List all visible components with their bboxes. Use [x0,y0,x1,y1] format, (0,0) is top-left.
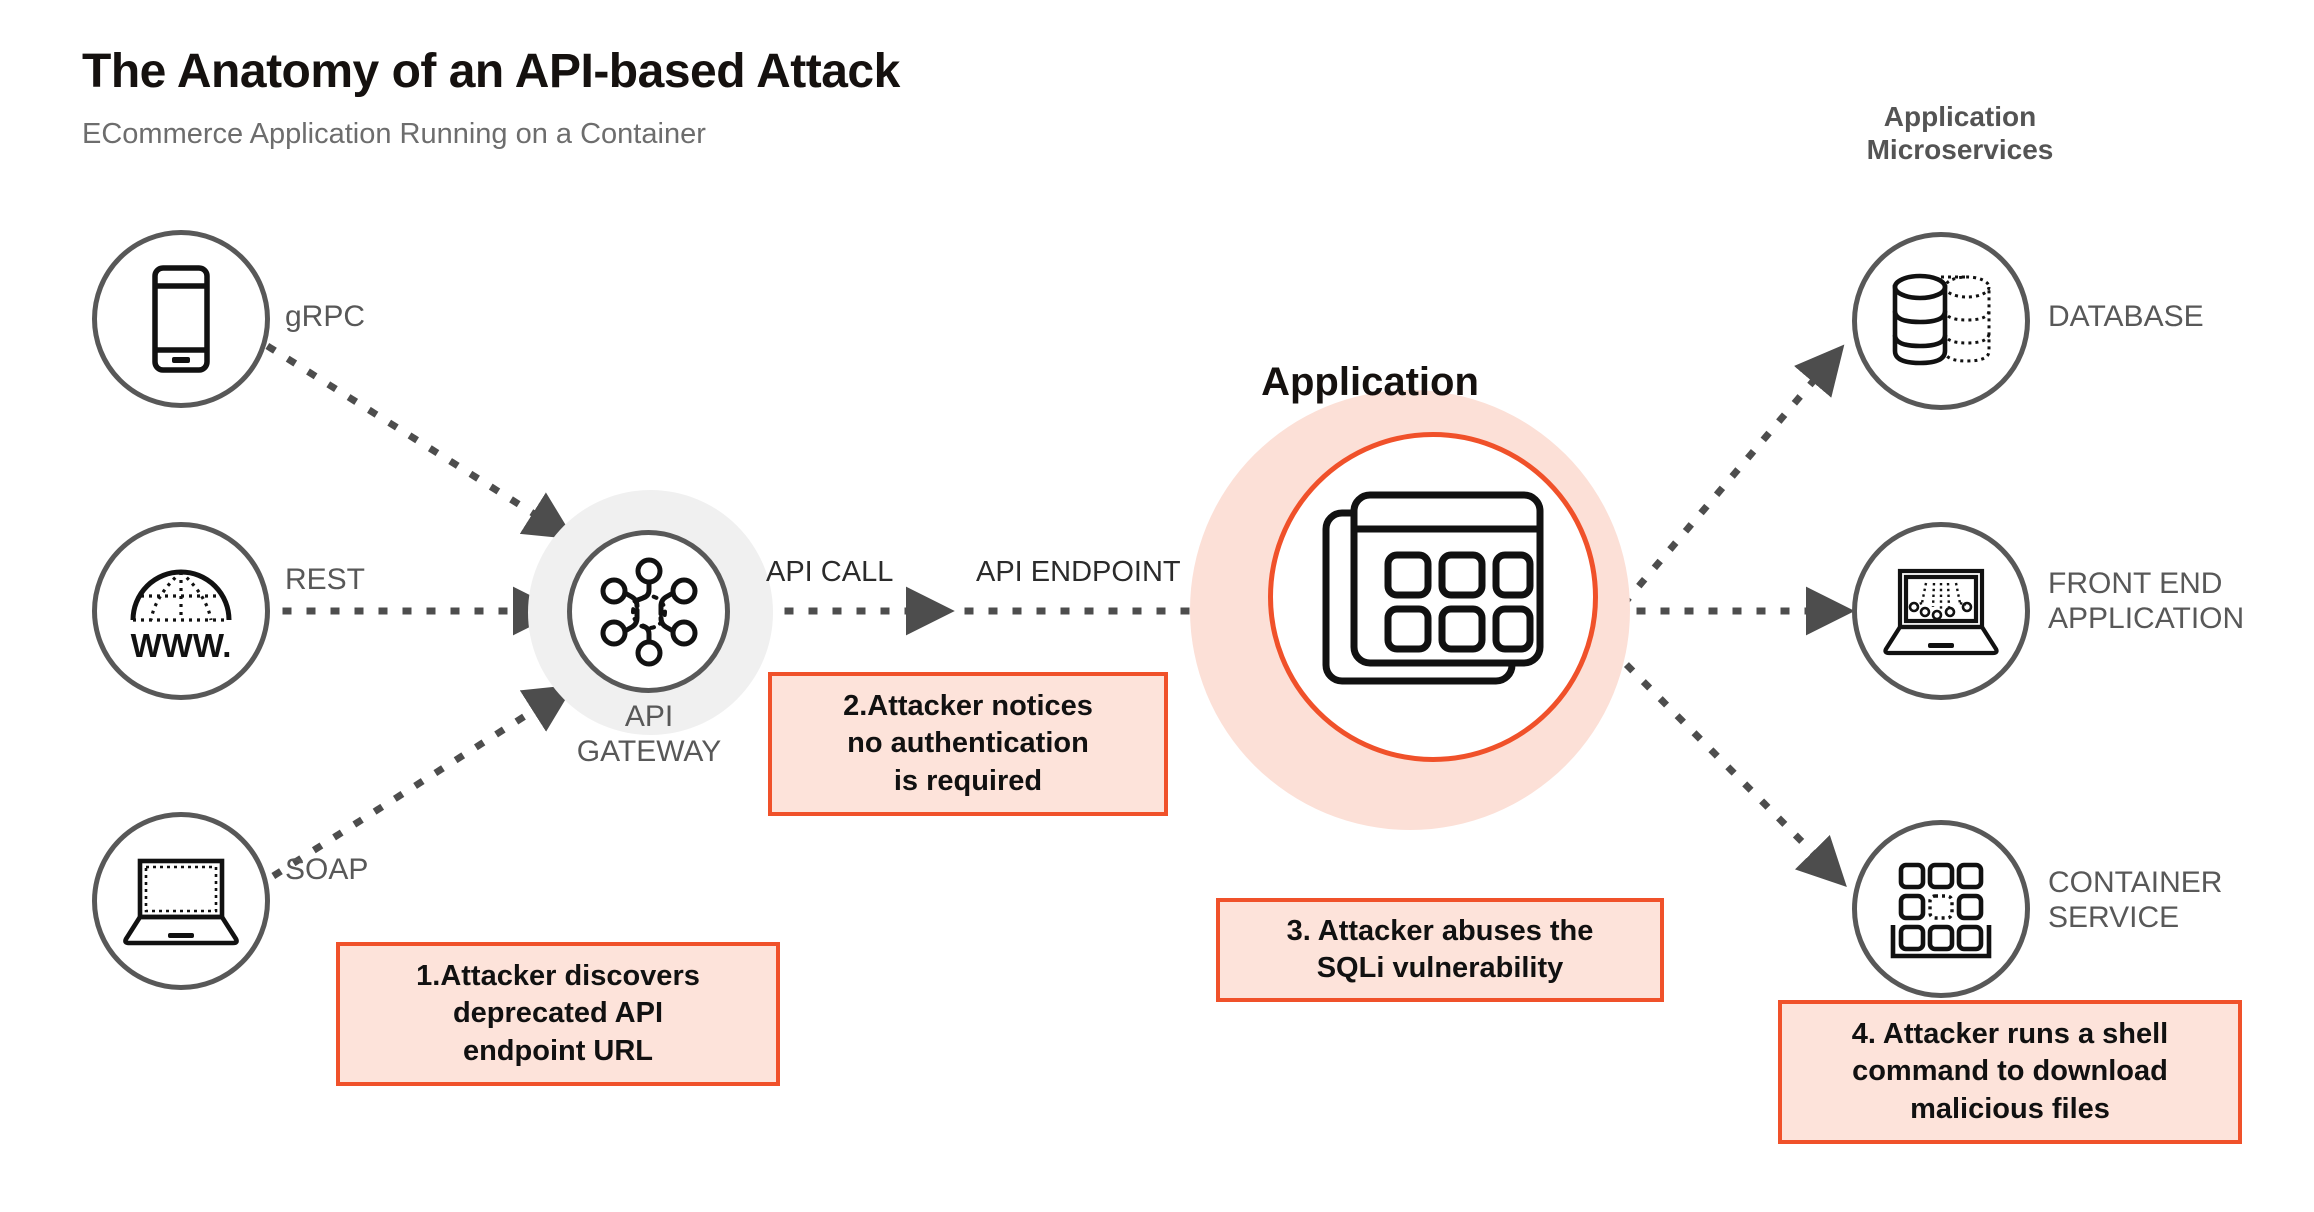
callout-step-2: 2.Attacker notices no authentication is … [768,672,1168,816]
application-heading: Application [1200,360,1540,405]
node-client-rest-label: REST [285,563,365,598]
node-client-grpc[interactable] [92,230,270,408]
node-microservice-frontend-label: FRONT END APPLICATION [2048,567,2244,637]
api-network-nodes-icon [589,552,709,672]
connector-label-api-endpoint: API ENDPOINT [976,556,1181,589]
connector-label-api-call: API CALL [766,556,893,589]
node-microservice-frontend[interactable] [1852,522,2030,700]
node-api-gateway[interactable] [567,530,730,693]
globe-www-icon: WWW. [121,556,241,666]
node-client-soap[interactable] [92,812,270,990]
laptop-icon [120,855,242,947]
database-cylinder-icon [1883,267,1999,375]
app-window-grid-icon [1318,487,1548,707]
node-microservice-database-label: DATABASE [2048,300,2204,335]
svg-text:WWW.: WWW. [131,627,232,664]
node-microservice-database[interactable] [1852,232,2030,410]
page-subtitle: ECommerce Application Running on a Conta… [82,118,706,151]
container-grid-icon [1887,857,1995,961]
mobile-phone-icon [138,264,224,374]
page-title: The Anatomy of an API-based Attack [82,44,900,99]
microservices-section-heading: Application Microservices [1810,100,2110,166]
node-microservice-container-label: CONTAINER SERVICE [2048,866,2222,936]
callout-step-3: 3. Attacker abuses the SQLi vulnerabilit… [1216,898,1664,1002]
node-application[interactable] [1268,432,1598,762]
node-client-soap-label: SOAP [285,853,368,888]
laptop-network-icon [1880,565,2002,657]
node-client-rest[interactable]: WWW. [92,522,270,700]
node-api-gateway-label: API GATEWAY [568,700,730,770]
node-microservice-container[interactable] [1852,820,2030,998]
callout-step-1: 1.Attacker discovers deprecated API endp… [336,942,780,1086]
diagram-canvas: The Anatomy of an API-based Attack EComm… [0,0,2314,1212]
node-client-grpc-label: gRPC [285,300,365,335]
callout-step-4: 4. Attacker runs a shell command to down… [1778,1000,2242,1144]
